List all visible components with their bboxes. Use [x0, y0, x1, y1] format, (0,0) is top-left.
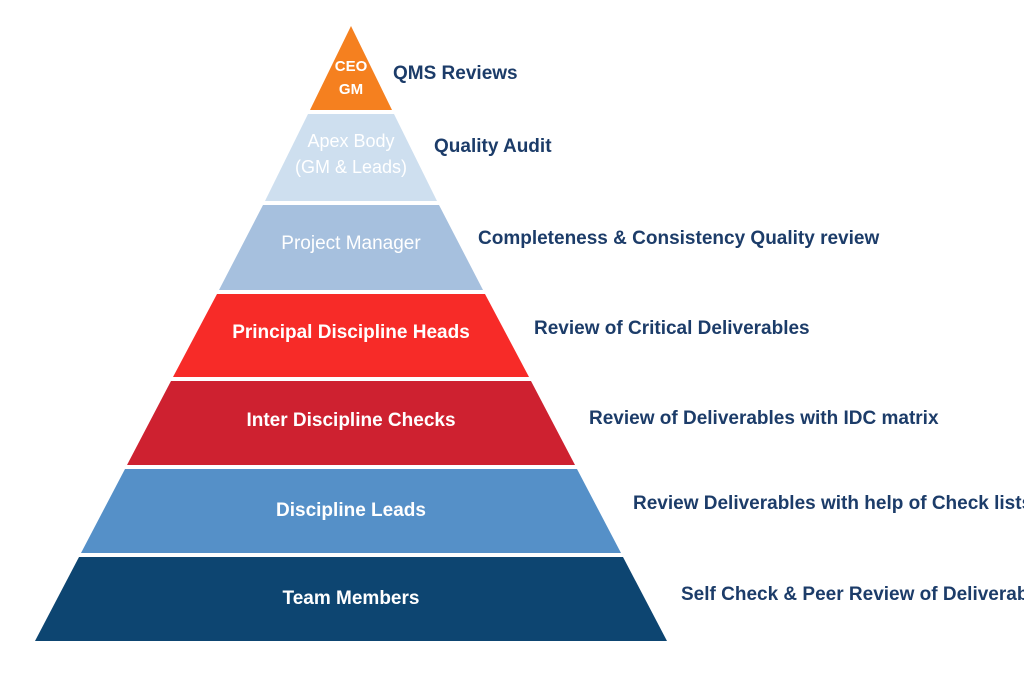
side-label-tier-3: Completeness & Consistency Quality revie…: [478, 229, 879, 248]
pyramid-tier-1-label-line1: CEO: [335, 58, 368, 75]
side-label-tier-6: Review Deliverables with help of Check l…: [633, 494, 1024, 513]
pyramid-tier-1-label-line2: GM: [339, 81, 363, 98]
side-label-tier-4: Review of Critical Deliverables: [534, 319, 810, 338]
side-label-tier-5: Review of Deliverables with IDC matrix: [589, 409, 939, 428]
pyramid-tier-2-label-line1: Apex Body: [307, 131, 394, 151]
side-label-tier-7: Self Check & Peer Review of Deliverables: [681, 585, 1024, 604]
pyramid-tier-5-label: Inter Discipline Checks: [246, 410, 455, 431]
pyramid-tier-7-label: Team Members: [283, 588, 420, 609]
pyramid-tier-4-label: Principal Discipline Heads: [232, 322, 470, 343]
pyramid-tier-3-label: Project Manager: [281, 233, 421, 254]
pyramid-diagram-canvas: CEO GM Apex Body (GM & Leads) Project Ma…: [0, 0, 1024, 699]
side-label-tier-1: QMS Reviews: [393, 64, 518, 83]
pyramid-tier-2-label-line2: (GM & Leads): [295, 157, 407, 177]
pyramid-tier-6-label: Discipline Leads: [276, 500, 426, 521]
side-label-tier-2: Quality Audit: [434, 137, 552, 156]
